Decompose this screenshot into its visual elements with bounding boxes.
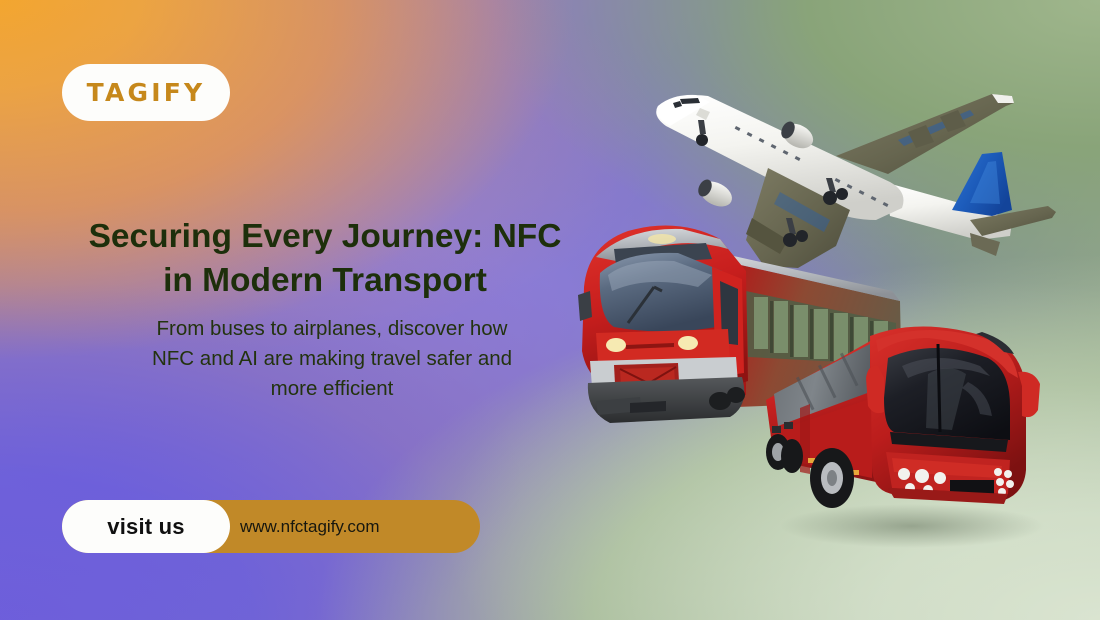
headline-line-1: Securing Every Journey: NFC (89, 218, 562, 255)
page-title: Securing Every Journey: NFC in Modern Tr… (66, 215, 584, 302)
visit-us-button[interactable]: visit us (62, 500, 230, 553)
website-url[interactable]: www.nfctagify.com (240, 500, 380, 553)
visit-us-label: visit us (107, 514, 184, 540)
page-subtitle: From buses to airplanes, discover how NF… (106, 314, 558, 404)
logo-text: TAGIFY (87, 78, 206, 107)
subtitle-line-3: more efficient (271, 377, 394, 400)
promo-banner: TAGIFY Securing Every Journey: NFC in Mo… (0, 0, 1100, 620)
bus-image (752, 282, 1052, 550)
logo-badge[interactable]: TAGIFY (62, 64, 230, 121)
headline-line-2: in Modern Transport (163, 262, 487, 299)
subtitle-line-2: NFC and AI are making travel safer and (152, 347, 512, 370)
subtitle-line-1: From buses to airplanes, discover how (157, 317, 508, 340)
